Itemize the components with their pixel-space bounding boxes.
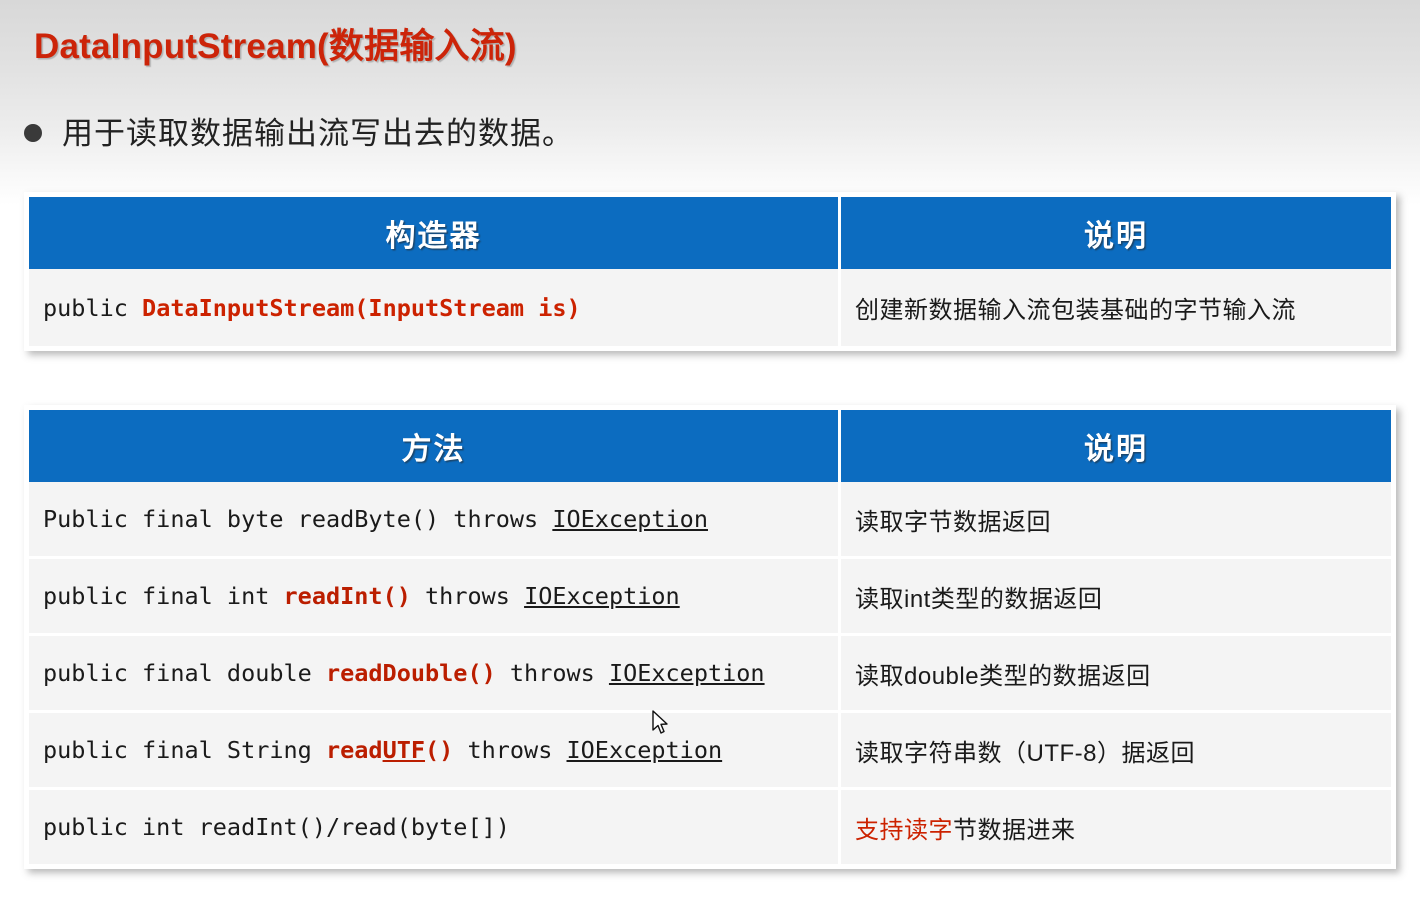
method-description-cell: 读取字符串数（UTF-8）据返回 [841, 713, 1391, 787]
code-signature: public int readInt()/read(byte[]) [43, 813, 510, 841]
methods-table: 方法 说明 Public final byte readByte() throw… [24, 405, 1396, 869]
code-plain-part: Public final byte readByte() throws [43, 505, 552, 533]
constructor-signature-cell: public DataInputStream(InputStream is) [29, 269, 841, 346]
description-rest-part: 节数据进来 [953, 817, 1076, 844]
method-description-cell: 读取int类型的数据返回 [841, 559, 1391, 633]
bullet-text: 用于读取数据输出流写出去的数据。 [62, 108, 574, 153]
bullet-dot-icon [24, 124, 42, 142]
method-description-cell: 读取字节数据返回 [841, 482, 1391, 556]
code-plain-part: public final double [43, 659, 326, 687]
code-plain-part-2: throws [411, 582, 524, 610]
code-signature: public final String readUTF() throws IOE… [43, 736, 722, 764]
code-signature: Public final byte readByte() throws IOEx… [43, 505, 708, 533]
table-row: public final double readDouble() throws … [29, 633, 1391, 710]
method-description-cell: 读取double类型的数据返回 [841, 636, 1391, 710]
description-rest-part: 读取double类型的数据返回 [855, 663, 1151, 690]
method-description-cell: 支持读字节数据进来 [841, 790, 1391, 864]
table-row: Public final byte readByte() throws IOEx… [29, 482, 1391, 556]
method-signature-cell: public int readInt()/read(byte[]) [29, 790, 841, 864]
code-plain-part: public final String [43, 736, 326, 764]
description-text: 读取字符串数（UTF-8）据返回 [855, 733, 1195, 768]
table-row: public final int readInt() throws IOExce… [29, 556, 1391, 633]
column-header-constructor: 构造器 [29, 197, 841, 269]
code-plain-part-2: throws [453, 736, 566, 764]
description-text: 支持读字节数据进来 [855, 810, 1076, 845]
table-row: public final String readUTF() throws IOE… [29, 710, 1391, 787]
code-highlight-part: readInt() [284, 582, 411, 610]
column-header-description: 说明 [841, 197, 1391, 269]
method-signature-cell: public final String readUTF() throws IOE… [29, 713, 841, 787]
method-signature-cell: public final int readInt() throws IOExce… [29, 559, 841, 633]
code-highlight-part: readDouble() [326, 659, 496, 687]
constructor-description-cell: 创建新数据输入流包装基础的字节输入流 [841, 269, 1391, 346]
bullet-line: 用于读取数据输出流写出去的数据。 [24, 108, 574, 153]
description-text: 读取double类型的数据返回 [855, 656, 1151, 691]
description-rest-part: 读取int类型的数据返回 [855, 586, 1102, 613]
description-rest-part: 读取字符串数（UTF-8）据返回 [855, 740, 1195, 767]
code-highlight-prefix: read [326, 736, 383, 764]
code-plain-part-2: throws [496, 659, 609, 687]
description-text: 读取字节数据返回 [855, 502, 1051, 537]
column-header-description: 说明 [841, 410, 1391, 482]
code-highlight-suffix: () [425, 736, 453, 764]
page-title: DataInputStream(数据输入流) [34, 18, 517, 69]
description-text: 读取int类型的数据返回 [855, 579, 1102, 614]
code-exception-part: IOException [567, 736, 723, 764]
code-highlight-underlined: UTF [383, 736, 425, 764]
method-signature-cell: public final double readDouble() throws … [29, 636, 841, 710]
code-signature: public final double readDouble() throws … [43, 659, 765, 687]
method-signature-cell: Public final byte readByte() throws IOEx… [29, 482, 841, 556]
code-exception-part: IOException [524, 582, 680, 610]
description-text: 创建新数据输入流包装基础的字节输入流 [855, 290, 1296, 325]
table-header-row: 方法 说明 [29, 410, 1391, 482]
description-rest-part: 读取字节数据返回 [855, 509, 1051, 536]
code-signature: public DataInputStream(InputStream is) [43, 294, 581, 322]
column-header-method: 方法 [29, 410, 841, 482]
code-plain-part: public int readInt()/read(byte[]) [43, 813, 510, 841]
table-header-row: 构造器 说明 [29, 197, 1391, 269]
table-row: public DataInputStream(InputStream is) 创… [29, 269, 1391, 346]
code-exception-part: IOException [609, 659, 765, 687]
description-red-part: 支持读字 [855, 817, 953, 844]
constructor-table: 构造器 说明 public DataInputStream(InputStrea… [24, 192, 1396, 351]
code-plain-part: public [43, 294, 142, 322]
table-row: public int readInt()/read(byte[]) 支持读字节数… [29, 787, 1391, 864]
code-exception-part: IOException [552, 505, 708, 533]
code-signature: public final int readInt() throws IOExce… [43, 582, 680, 610]
code-highlight-part: DataInputStream(InputStream is) [142, 294, 581, 322]
code-plain-part: public final int [43, 582, 284, 610]
